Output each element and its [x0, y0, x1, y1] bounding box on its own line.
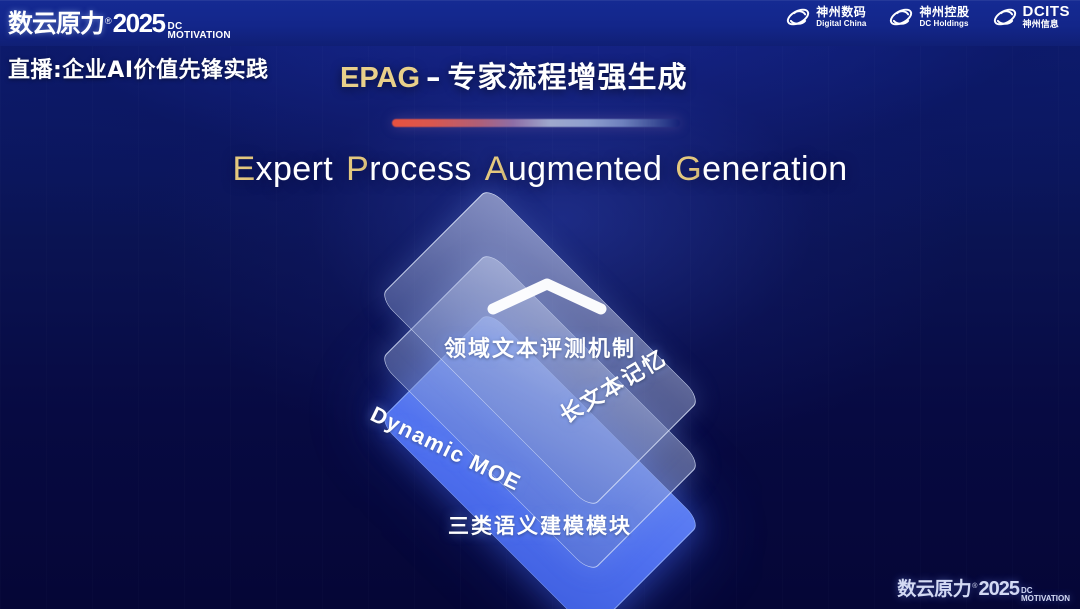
stack-layer-bottom-label: 三类语义建模模块: [0, 510, 1080, 540]
slide-subtitle-english: ExpertProcessAugmentedGeneration: [0, 150, 1080, 189]
subtitle-word-rest: ugmented: [508, 150, 662, 188]
watermark-registered-mark: ®: [972, 583, 977, 590]
partner-name-cn: 神州控股: [919, 6, 969, 18]
event-logo-tagline-line2: MOTIVATION: [168, 31, 231, 40]
partner-logo-text: DCITS 神州信息: [1023, 4, 1071, 30]
partner-logo-text: 神州数码 Digital China: [816, 6, 866, 28]
watermark-tagline-line2: MOTIVATION: [1021, 595, 1070, 603]
slide-title-chinese: 专家流程增强生成: [448, 60, 688, 94]
subtitle-word-initial: G: [675, 150, 702, 188]
partner-logo-group: 神州数码 Digital China 神州控股 DC Holdings: [785, 4, 1070, 30]
swirl-icon: [785, 4, 811, 30]
chevron-up-icon: [486, 276, 608, 316]
swirl-icon: [992, 4, 1018, 30]
watermark-name-cn: 数云原力: [897, 574, 971, 601]
partner-logo-text: 神州控股 DC Holdings: [919, 6, 969, 28]
slide-title-dash: –: [426, 60, 442, 94]
header-bar: 数云原力 ® 2025 DC MOTIVATION 神州数码 Digital C…: [0, 0, 1080, 46]
partner-logo-digital-china: 神州数码 Digital China: [785, 4, 866, 30]
title-divider-rule: [392, 119, 680, 127]
slide-title-acronym: EPAG: [340, 62, 420, 94]
partner-name-en: DC Holdings: [919, 20, 969, 28]
swirl-icon: [888, 4, 914, 30]
partner-name-cn: 神州数码: [816, 6, 866, 18]
event-logo-registered-mark: ®: [105, 16, 112, 26]
partner-name-en: Digital China: [816, 20, 866, 28]
subtitle-word-rest: rocess: [369, 150, 472, 188]
subtitle-word-augmented: Augmented: [485, 150, 663, 188]
subtitle-word-generation: Generation: [675, 150, 847, 188]
slide-canvas: 数云原力 ® 2025 DC MOTIVATION 神州数码 Digital C…: [0, 0, 1080, 609]
footer-watermark: 数云原力 ® 2025 DC MOTIVATION: [897, 574, 1070, 605]
partner-logo-dc-holdings: 神州控股 DC Holdings: [888, 4, 969, 30]
watermark-tagline: DC MOTIVATION: [1021, 587, 1070, 603]
subtitle-word-initial: P: [346, 150, 369, 188]
subtitle-word-initial: E: [232, 150, 255, 188]
partner-logo-dcits: DCITS 神州信息: [992, 4, 1071, 30]
subtitle-word-initial: A: [485, 150, 508, 188]
stack-layer-top-label: 领域文本评测机制: [0, 331, 1080, 363]
subtitle-word-rest: xpert: [256, 150, 334, 188]
event-logo-tagline: DC MOTIVATION: [168, 22, 231, 40]
event-logo: 数云原力 ® 2025 DC MOTIVATION: [8, 4, 231, 43]
subtitle-word-rest: eneration: [702, 150, 847, 188]
event-logo-year: 2025: [113, 8, 165, 39]
slide-title: EPAG–专家流程增强生成: [340, 54, 688, 96]
partner-name-en: 神州信息: [1023, 21, 1071, 30]
watermark-year: 2025: [978, 578, 1019, 601]
subtitle-word-process: Process: [346, 150, 472, 188]
subtitle-word-expert: Expert: [232, 150, 333, 188]
event-logo-name-cn: 数云原力: [8, 4, 104, 40]
live-stream-label: 直播:企业AI价值先锋实践: [8, 52, 269, 84]
partner-name-cn: DCITS: [1023, 4, 1071, 19]
